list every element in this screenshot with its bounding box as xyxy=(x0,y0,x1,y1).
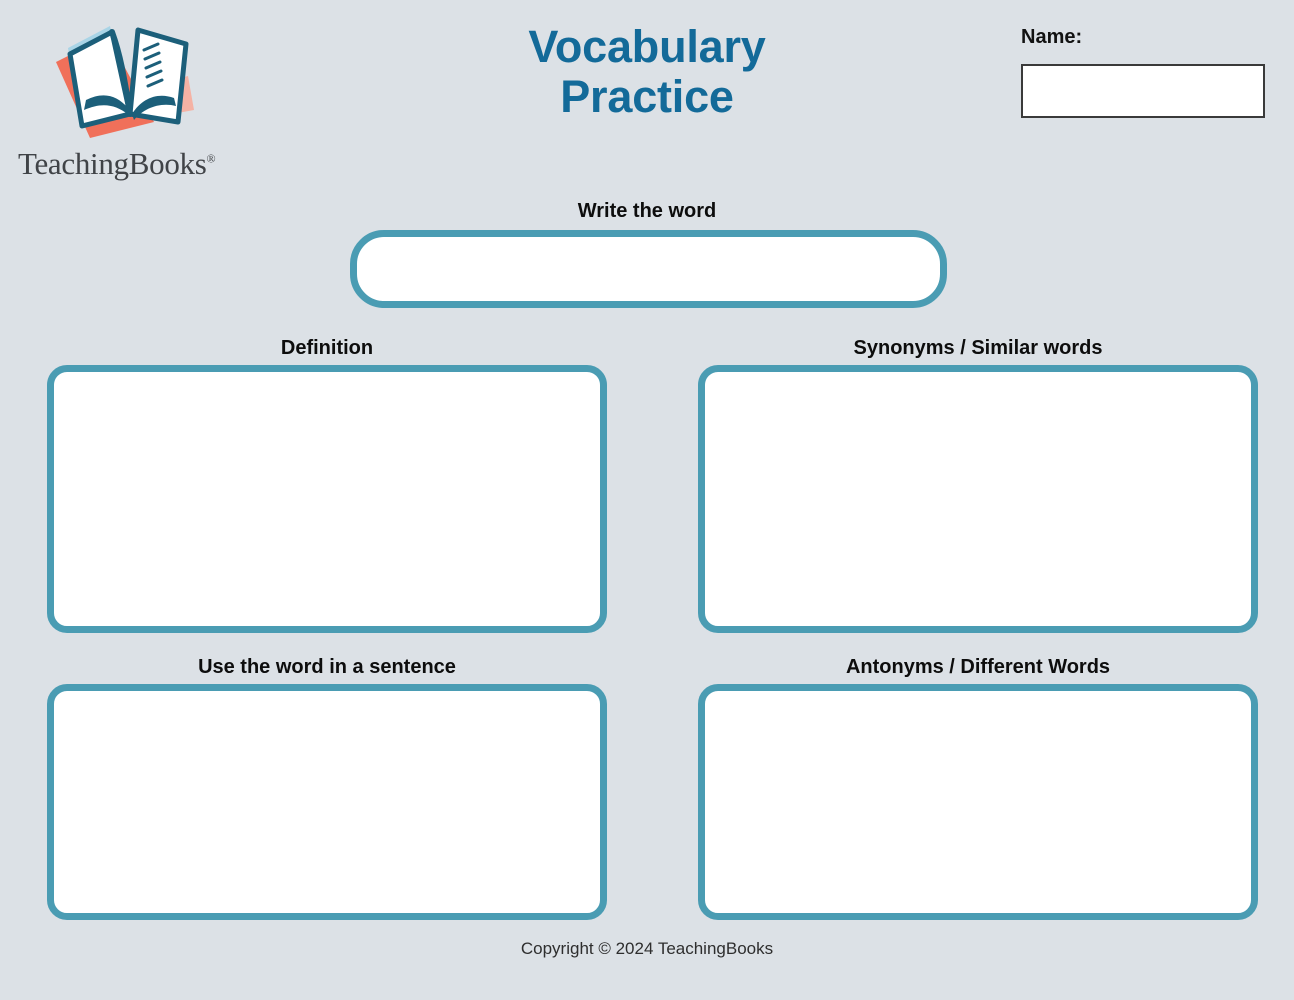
page-title-line1: Vocabulary xyxy=(397,22,897,72)
section-label-sentence: Use the word in a sentence xyxy=(47,656,607,679)
section-label-definition: Definition xyxy=(47,337,607,360)
open-book-logo-icon xyxy=(46,14,206,144)
name-input[interactable] xyxy=(1021,64,1265,118)
section-label-synonyms: Synonyms / Similar words xyxy=(698,337,1258,360)
page-title: Vocabulary Practice xyxy=(397,22,897,123)
logo-wordmark-text: TeachingBooks xyxy=(18,146,207,181)
footer-copyright: Copyright © 2024 TeachingBooks xyxy=(0,939,1294,959)
logo-wordmark: TeachingBooks® xyxy=(18,146,248,182)
teachingbooks-logo: TeachingBooks® xyxy=(18,14,248,189)
name-label: Name: xyxy=(1021,26,1082,49)
synonyms-input[interactable] xyxy=(698,365,1258,633)
definition-input[interactable] xyxy=(47,365,607,633)
worksheet-page: TeachingBooks® Vocabulary Practice Name:… xyxy=(0,0,1294,1000)
antonyms-input[interactable] xyxy=(698,684,1258,920)
page-title-line2: Practice xyxy=(397,72,897,122)
sentence-input[interactable] xyxy=(47,684,607,920)
registered-trademark-icon: ® xyxy=(207,152,216,166)
section-label-write-the-word: Write the word xyxy=(397,200,897,223)
write-the-word-input[interactable] xyxy=(350,230,947,308)
section-label-antonyms: Antonyms / Different Words xyxy=(698,656,1258,679)
